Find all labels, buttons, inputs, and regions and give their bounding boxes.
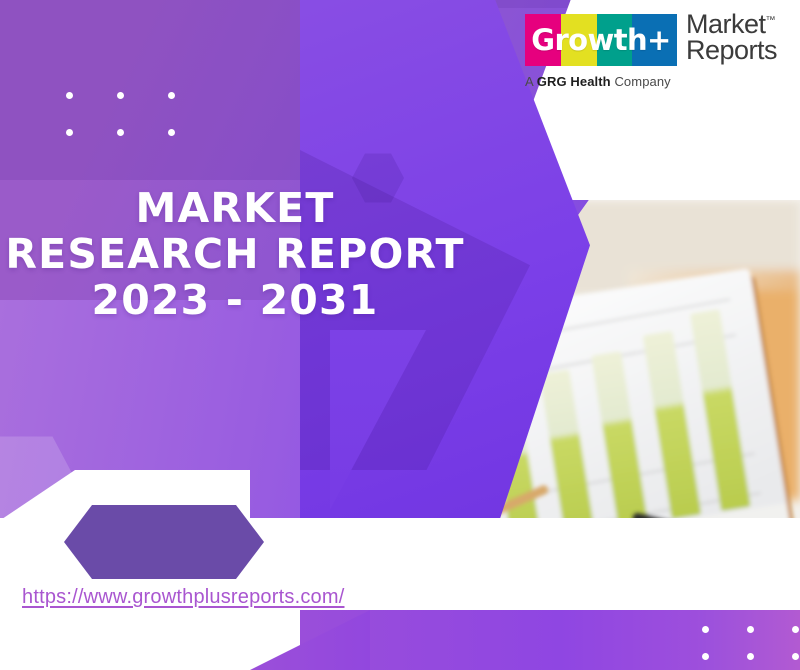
logo-color-bands: Growth+ [525, 14, 677, 66]
title-line-2: RESEARCH REPORT [0, 232, 470, 278]
bottom-band-white-left [0, 610, 300, 670]
dot [702, 653, 709, 660]
dot [168, 129, 175, 136]
dot [66, 92, 73, 99]
logo-brand-text: Market™ Reports [686, 11, 777, 64]
website-url-link[interactable]: https://www.growthplusreports.com/ [22, 586, 344, 609]
dot [792, 626, 799, 633]
dot [66, 129, 73, 136]
dot [117, 129, 124, 136]
dot [168, 92, 175, 99]
dot [702, 626, 709, 633]
hexagon-accent-dark [64, 505, 264, 579]
dot-grid-top-left [66, 92, 175, 136]
logo-wordmark: Growth+ [525, 14, 677, 66]
title-line-3: 2023 - 2031 [0, 278, 470, 324]
logo-brand-line2: Reports [686, 37, 777, 63]
dot-grid-bottom-right [702, 626, 799, 660]
report-cover: Growth+ Market™ Reports A GRG Health Com… [0, 0, 800, 670]
dot [747, 653, 754, 660]
dot [747, 626, 754, 633]
dot [117, 92, 124, 99]
page-title: MARKET RESEARCH REPORT 2023 - 2031 [0, 186, 470, 324]
logo-tagline: A GRG Health Company [525, 74, 790, 89]
logo-brand-line1: Market™ [686, 11, 777, 37]
brand-logo[interactable]: Growth+ Market™ Reports A GRG Health Com… [525, 14, 790, 98]
trademark-icon: ™ [766, 15, 776, 26]
title-line-1: MARKET [0, 186, 470, 232]
dot [792, 653, 799, 660]
